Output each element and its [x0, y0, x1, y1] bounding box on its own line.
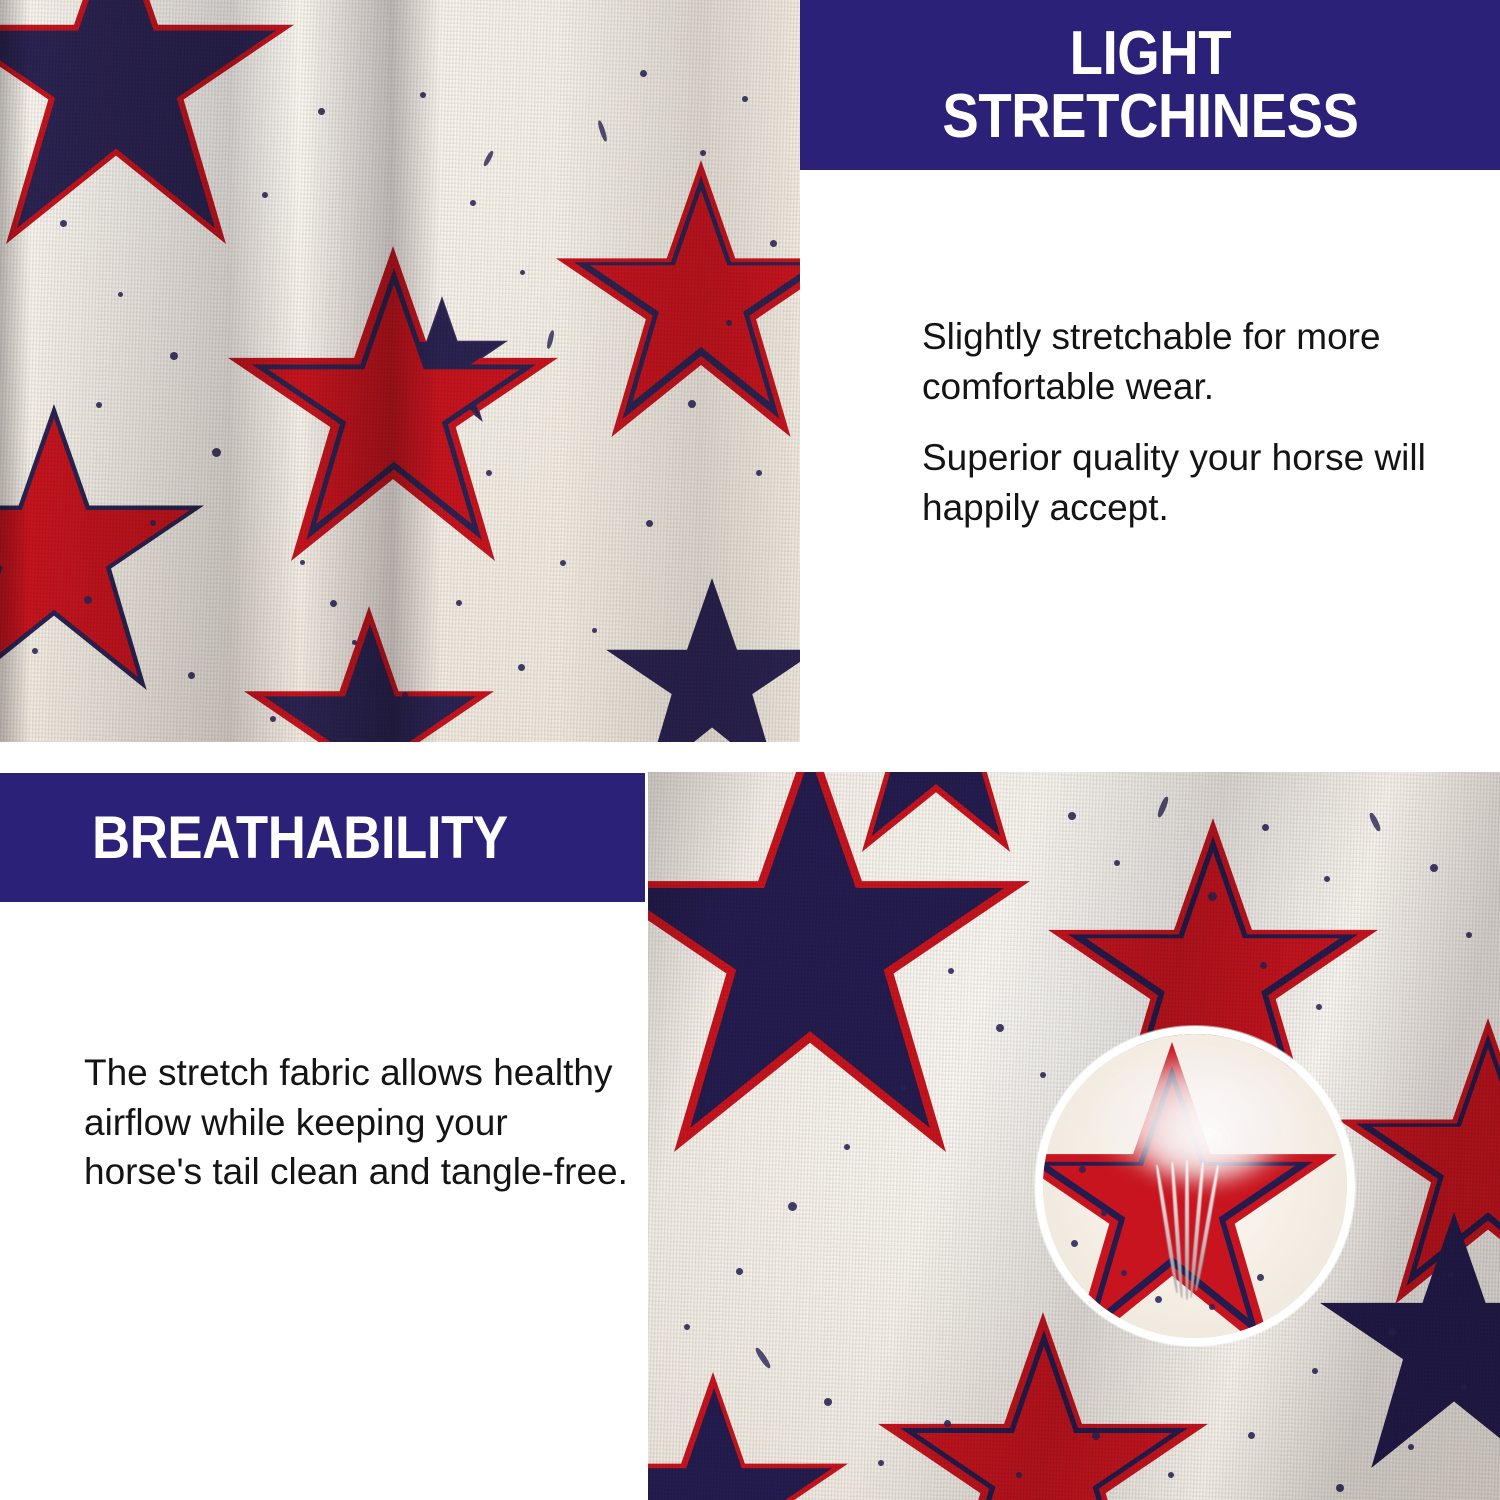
- fabric-photo-stretchiness: [0, 0, 800, 742]
- banner-light-stretchiness: LIGHT STRETCHINESS: [800, 0, 1500, 170]
- heading-light-stretchiness: LIGHT STRETCHINESS: [942, 22, 1358, 148]
- magnifier-content: [1043, 1034, 1347, 1338]
- airflow-magnifier-circle: [1035, 1026, 1355, 1346]
- heading-line-2: STRETCHINESS: [942, 82, 1358, 151]
- paragraph-stretch-2: Superior quality your horse will happily…: [922, 433, 1467, 532]
- heading-breathability: BREATHABILITY: [92, 807, 508, 868]
- paragraph-stretch-1: Slightly stretchable for more comfortabl…: [922, 312, 1467, 411]
- paragraph-breathability-1: The stretch fabric allows healthy airflo…: [84, 1048, 629, 1197]
- infographic-page: LIGHT STRETCHINESS Slightly stretchable …: [0, 0, 1500, 1500]
- copy-light-stretchiness: Slightly stretchable for more comfortabl…: [922, 312, 1467, 532]
- heading-line-1: LIGHT: [1069, 19, 1230, 88]
- heading-line-1: BREATHABILITY: [92, 804, 508, 871]
- banner-breathability: BREATHABILITY: [0, 773, 645, 902]
- copy-breathability: The stretch fabric allows healthy airflo…: [84, 1048, 629, 1197]
